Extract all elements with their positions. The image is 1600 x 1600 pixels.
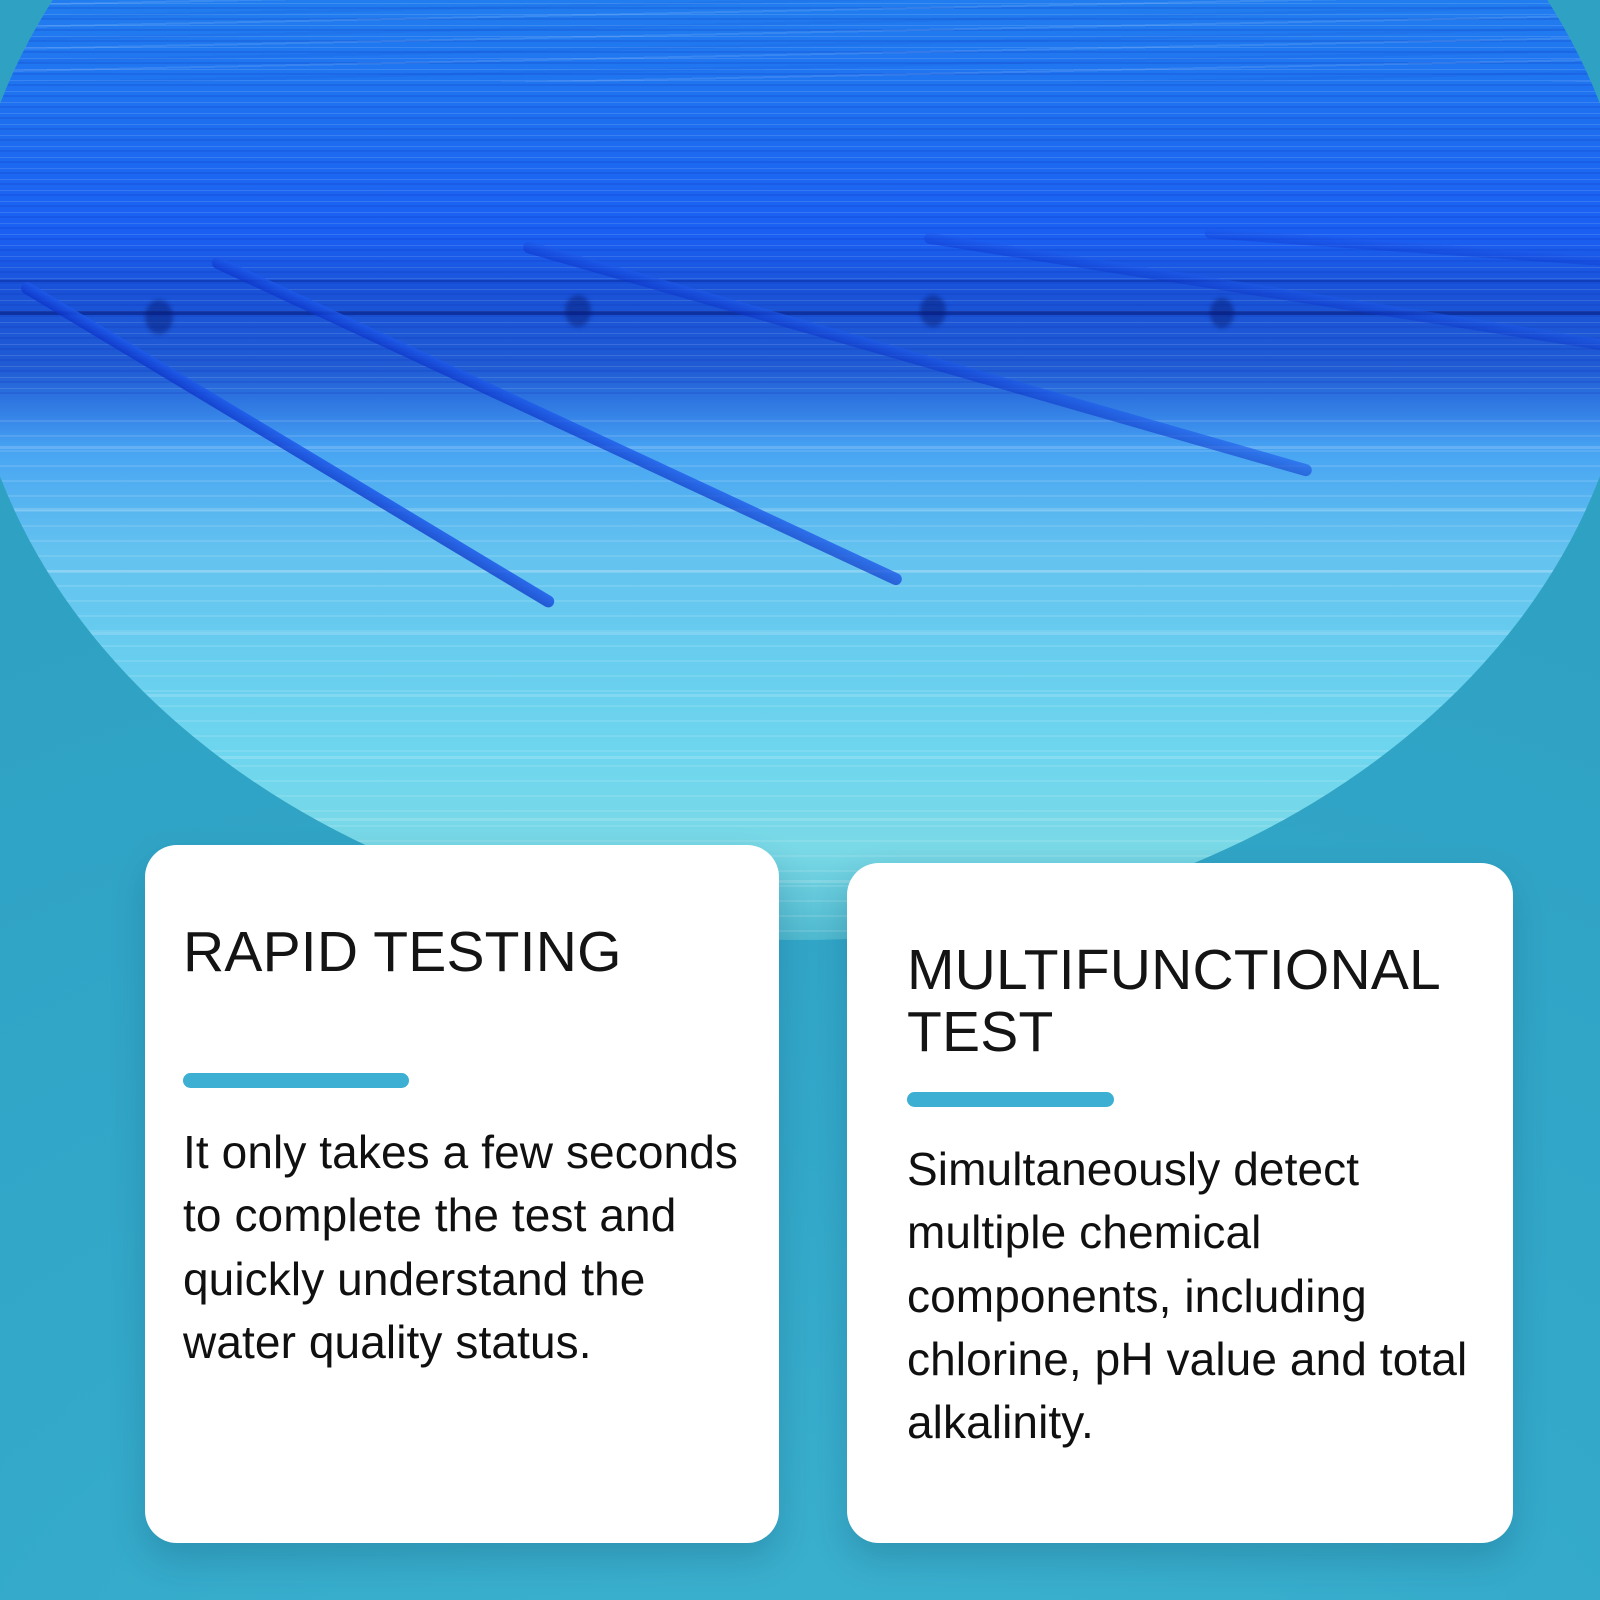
title-accent-bar [907, 1092, 1114, 1107]
pool-water-gradient [0, 0, 1600, 940]
feature-card-title: MULTIFUNCTIONAL TEST [907, 940, 1503, 1063]
title-accent-bar [183, 1073, 409, 1088]
pool-wall-fixture-icon [1210, 298, 1234, 328]
hero-pool-image [0, 0, 1600, 940]
pool-wall-fixture-icon [920, 295, 946, 327]
feature-card-body: Simultaneously detect multiple chemical … [907, 1138, 1495, 1454]
water-highlight-sheen [0, 0, 1051, 30]
feature-card-multifunctional-test: MULTIFUNCTIONAL TEST Simultaneously dete… [847, 863, 1513, 1543]
pool-wall-fixture-icon [145, 300, 173, 334]
page-root: RAPID TESTING It only takes a few second… [0, 0, 1600, 1600]
feature-card-rapid-testing: RAPID TESTING It only takes a few second… [145, 845, 779, 1543]
feature-card-body: It only takes a few seconds to complete … [183, 1121, 761, 1374]
feature-card-title: RAPID TESTING [183, 922, 755, 984]
pool-wall-fixture-icon [565, 295, 591, 327]
